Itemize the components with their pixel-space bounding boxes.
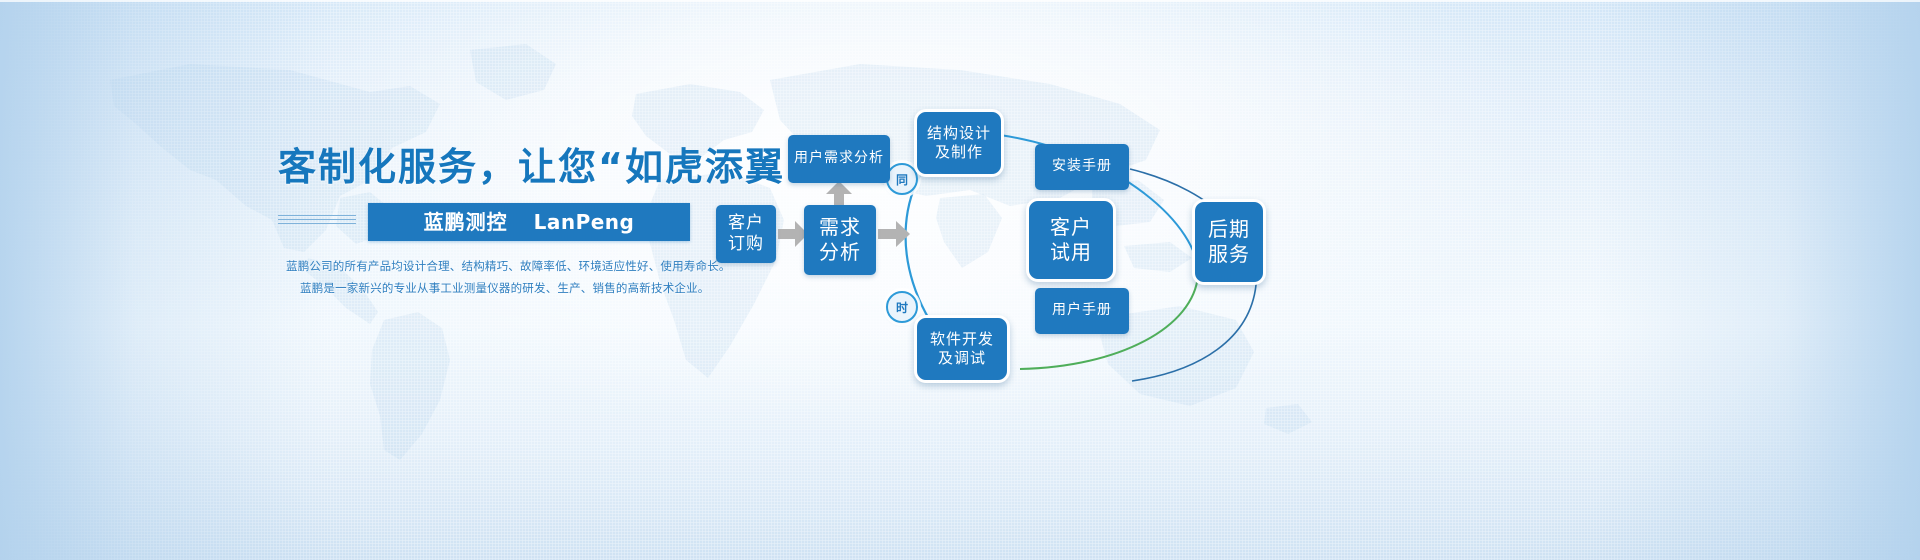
brand-name-cn: 蓝鹏测控: [424, 210, 508, 234]
top-highlight-line: [0, 0, 1920, 2]
banner-description: 蓝鹏公司的所有产品均设计合理、结构精巧、故障率低、环境适应性好、使用寿命长。 蓝…: [286, 255, 706, 299]
node-user-manual[interactable]: 用户手册: [1035, 288, 1129, 334]
node-customer-order[interactable]: 客户订购: [716, 205, 776, 263]
brand-name-en: LanPeng: [534, 210, 635, 234]
ribbon-rule-lines: [278, 215, 356, 221]
description-line-2: 蓝鹏是一家新兴的专业从事工业测量仪器的研发、生产、销售的高新技术企业。: [286, 277, 706, 299]
badge-shi: 时: [886, 291, 918, 323]
node-installation-manual[interactable]: 安装手册: [1035, 144, 1129, 190]
process-flow-diagram: 同 时 用户需求分析 客户订购 需求分析 结构设计及制作 安装手册 客户试用 用…: [700, 95, 1920, 415]
banner-stage: 客制化服务，让您“如虎添翼” 蓝鹏测控LanPeng 蓝鹏公司的所有产品均设计合…: [0, 0, 1920, 560]
node-software-development[interactable]: 软件开发及调试: [914, 315, 1010, 383]
badge-tong-label: 同: [896, 171, 908, 188]
description-line-1: 蓝鹏公司的所有产品均设计合理、结构精巧、故障率低、环境适应性好、使用寿命长。: [286, 255, 706, 277]
node-requirement-analysis[interactable]: 需求分析: [804, 205, 876, 275]
brand-ribbon-row: 蓝鹏测控LanPeng: [278, 203, 698, 241]
arrow-analysis-to-cycle: [878, 221, 910, 247]
node-after-sales-service[interactable]: 后期服务: [1192, 199, 1266, 285]
badge-shi-label: 时: [896, 299, 908, 316]
node-customer-trial[interactable]: 客户试用: [1026, 198, 1116, 282]
brand-ribbon: 蓝鹏测控LanPeng: [368, 203, 690, 241]
badge-tong: 同: [886, 163, 918, 195]
node-user-requirement-analysis[interactable]: 用户需求分析: [788, 135, 890, 183]
node-structural-design[interactable]: 结构设计及制作: [914, 109, 1004, 177]
